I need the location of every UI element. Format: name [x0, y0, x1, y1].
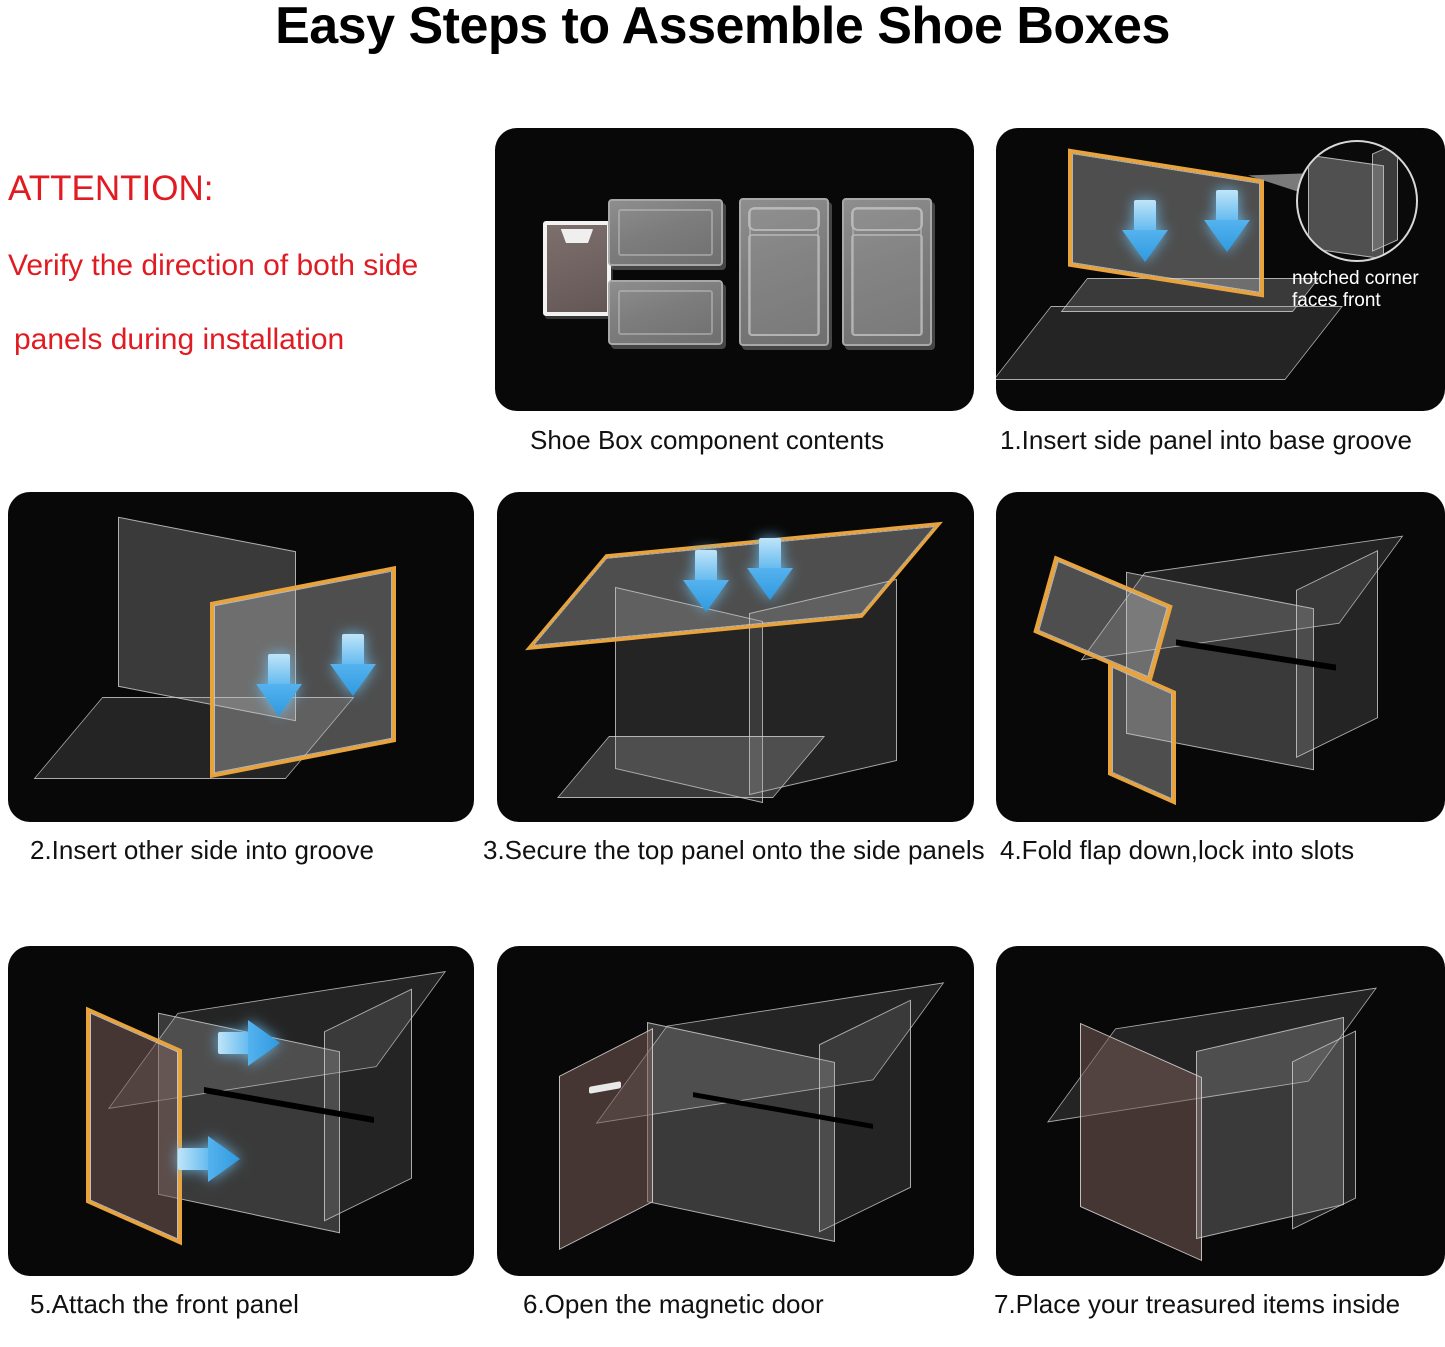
callout-line-2: faces front — [1292, 290, 1419, 312]
component-top-panel — [608, 199, 723, 266]
figure-panel-background — [495, 128, 974, 411]
right-arrow — [178, 1136, 240, 1182]
base-panel — [996, 306, 1343, 380]
figure-step-1: notched corner faces front 1.Insert side… — [996, 128, 1445, 411]
front-door-panel-highlighted — [90, 1012, 178, 1239]
corner-detail-edge — [1372, 142, 1398, 252]
arrow-stem — [178, 1148, 212, 1170]
arrow-head — [256, 684, 302, 716]
attention-line-2: panels during installation — [8, 322, 488, 358]
figure-step-5: 5.Attach the front panel — [8, 946, 474, 1276]
figure-step-2: 2.Insert other side into groove — [8, 492, 474, 822]
figure-caption: 2.Insert other side into groove — [30, 836, 474, 866]
attention-heading: ATTENTION: — [8, 168, 488, 210]
box-front-opening — [647, 1022, 835, 1242]
figure-caption: 1.Insert side panel into base groove — [1000, 426, 1445, 456]
figure-panel-background — [497, 946, 974, 1276]
down-arrow — [256, 654, 302, 716]
door-handle-notch — [561, 229, 593, 243]
down-arrow — [330, 634, 376, 696]
figure-caption: 6.Open the magnetic door — [523, 1290, 974, 1320]
figure-step-3: 3.Secure the top panel onto the side pan… — [497, 492, 974, 822]
arrow-head — [248, 1020, 280, 1066]
figure-caption: 7.Place your treasured items inside — [994, 1290, 1445, 1320]
instruction-sheet: Easy Steps to Assemble Shoe Boxes ATTENT… — [0, 0, 1445, 1347]
base-panel — [557, 736, 825, 798]
figure-components: Shoe Box component contents — [495, 128, 974, 411]
right-arrow — [218, 1020, 280, 1066]
attention-block: ATTENTION: Verify the direction of both … — [8, 168, 488, 358]
arrow-stem — [268, 654, 290, 688]
figure-panel-background — [8, 946, 474, 1276]
figure-step-6: 6.Open the magnetic door — [497, 946, 974, 1276]
figure-step-7: 7.Place your treasured items inside — [996, 946, 1445, 1276]
arrow-stem — [1134, 200, 1156, 234]
arrow-head — [747, 568, 793, 600]
side-panel-flap-strip — [851, 207, 923, 231]
attention-line-1: Verify the direction of both side — [8, 248, 488, 284]
component-base-panel — [608, 280, 723, 345]
figure-caption: Shoe Box component contents — [530, 426, 974, 456]
arrow-head — [330, 664, 376, 696]
figure-caption: 5.Attach the front panel — [30, 1290, 474, 1320]
side-panel-body — [851, 234, 923, 336]
arrow-stem — [342, 634, 364, 668]
component-front-door-panel — [543, 221, 611, 316]
figure-caption: 4.Fold flap down,lock into slots — [1000, 836, 1445, 866]
page-title: Easy Steps to Assemble Shoe Boxes — [0, 0, 1445, 55]
down-arrow — [683, 550, 729, 612]
down-arrow — [747, 538, 793, 600]
component-side-panel-right — [842, 198, 932, 346]
figure-panel-background — [497, 492, 974, 822]
side-panel-body — [748, 234, 820, 336]
arrow-head — [208, 1136, 240, 1182]
arrow-head — [1122, 230, 1168, 262]
down-arrow — [1122, 200, 1168, 262]
magnified-notched-corner — [1296, 140, 1418, 262]
arrow-stem — [1216, 190, 1238, 224]
down-arrow — [1204, 190, 1250, 252]
figure-panel-background: notched corner faces front — [996, 128, 1445, 411]
figure-panel-background — [996, 946, 1445, 1276]
figure-caption: 3.Secure the top panel onto the side pan… — [483, 836, 974, 866]
magnetic-door-open — [559, 1028, 653, 1250]
figure-step-4: 4.Fold flap down,lock into slots — [996, 492, 1445, 822]
arrow-stem — [759, 538, 781, 572]
arrow-head — [1204, 220, 1250, 252]
figure-panel-background — [8, 492, 474, 822]
base-groove — [1061, 278, 1320, 312]
arrow-head — [683, 580, 729, 612]
arrow-stem — [218, 1032, 252, 1054]
figure-panel-background — [996, 492, 1445, 822]
callout-line-1: notched corner — [1292, 268, 1419, 290]
box-back-face — [1292, 1030, 1356, 1229]
side-panel-flap-strip — [748, 207, 820, 231]
arrow-stem — [695, 550, 717, 584]
component-side-panel-left — [739, 198, 829, 346]
callout-label: notched corner faces front — [1292, 268, 1419, 313]
